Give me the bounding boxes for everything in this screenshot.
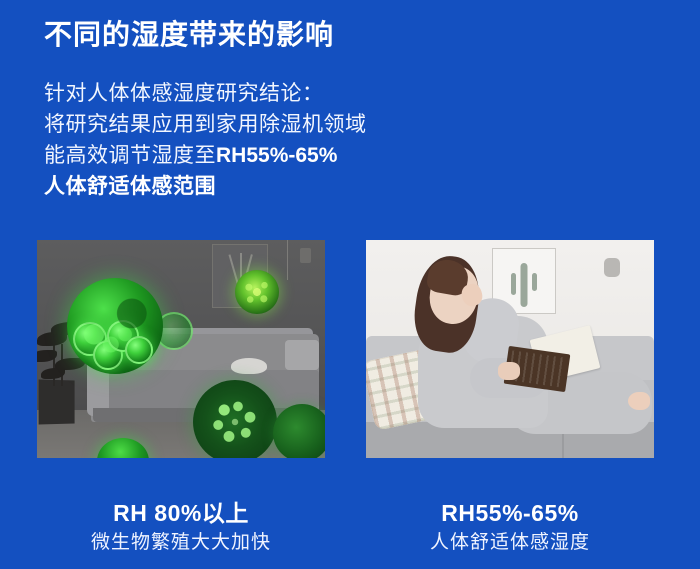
humidity-poster: 不同的湿度带来的影响 针对人体体感湿度研究结论： 将研究结果应用到家用除湿机领域… [0,0,700,569]
scene-microbe-room [37,240,325,458]
cactus-icon [521,263,528,307]
scene-woman-reading [366,240,654,458]
sofa-cushion [285,340,319,370]
caption-sub-text: 微生物繁殖大大加快 [37,528,325,557]
microbe-sphere-cluster [193,380,277,458]
body-line-1: 针对人体体感湿度研究结论： [44,78,494,109]
wall-switch-icon [300,248,311,263]
microbe-sphere-small [235,270,279,314]
microbe-bud [73,322,107,356]
microbe-bud [125,336,153,364]
sofa-throw-pillow [231,358,267,374]
body-copy: 针对人体体感湿度研究结论： 将研究结果应用到家用除湿机领域 能高效调节湿度至RH… [44,78,494,202]
caption-high-humidity: RH 80%以上 微生物繁殖大大加快 [37,498,325,557]
microbe-sphere-large [67,278,163,374]
body-line-2: 将研究结果应用到家用除湿机领域 [44,109,494,140]
body-line-3-highlight: RH55%-65% [216,144,337,167]
cactus-arm-icon [511,273,516,295]
photo-panel-comfort-humidity [366,240,654,458]
photo-panel-high-humidity [37,240,325,458]
caption-comfort-humidity: RH55%-65% 人体舒适体感湿度 [366,498,654,557]
microbe-bud [93,340,123,370]
page-title: 不同的湿度带来的影响 [44,18,334,52]
caption-sub-text: 人体舒适体感湿度 [366,528,654,557]
pendant-lamp-cord [287,240,288,280]
plant-pot [39,380,75,425]
microbe-bud [107,320,139,352]
caption-main-text: RH55%-65% [366,498,654,528]
body-line-4: 人体舒适体感范围 [44,171,494,202]
body-line-3: 能高效调节湿度至RH55%-65% [44,140,494,171]
body-line-3-prefix: 能高效调节湿度至 [44,144,216,167]
caption-main-text: RH 80%以上 [37,498,325,528]
woman-foot [628,392,650,410]
wall-speaker-icon [604,258,620,277]
woman-hand-holding-book [498,362,520,380]
cactus-arm-icon [532,273,537,291]
microbe-sphere-edge [273,404,325,458]
